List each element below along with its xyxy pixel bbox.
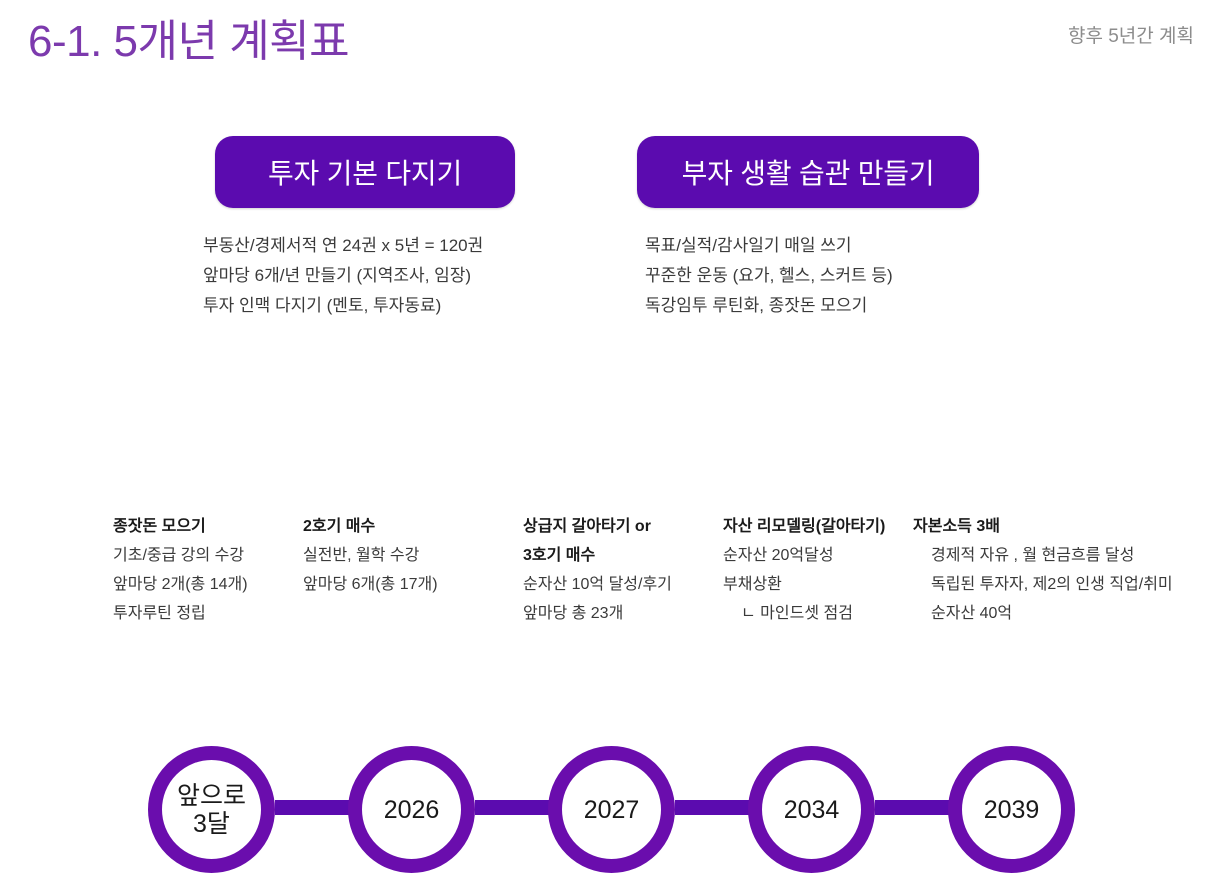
pillar-note-line: 독강임투 루틴화, 종잣돈 모으기	[645, 291, 893, 321]
pillar-header-2: 부자 생활 습관 만들기	[637, 136, 979, 208]
milestone-column-5: 자본소득 3배 경제적 자유 , 월 현금흐름 달성 독립된 투자자, 제2의 …	[913, 512, 1173, 628]
timeline-node-2[interactable]: 2026	[348, 746, 475, 873]
milestone-line: 앞마당 2개(총 14개)	[113, 570, 248, 599]
milestone-heading: 종잣돈 모으기	[113, 512, 248, 541]
slide-subtitle: 향후 5년간 계획	[1068, 24, 1194, 50]
milestone-line: 투자루틴 정립	[113, 599, 248, 628]
timeline-node-5[interactable]: 2039	[948, 746, 1075, 873]
milestone-line: 순자산 20억달성	[723, 541, 885, 570]
milestone-line: 실전반, 월학 수강	[303, 541, 438, 570]
pillar-notes-1: 부동산/경제서적 연 24권 x 5년 = 120권 앞마당 6개/년 만들기 …	[203, 231, 483, 321]
timeline-node-5-label: 2039	[984, 796, 1040, 824]
pillar-note-line: 꾸준한 운동 (요가, 헬스, 스커트 등)	[645, 261, 893, 291]
milestone-line: 부채상환	[723, 570, 885, 599]
milestone-column-4: 자산 리모델링(갈아타기) 순자산 20억달성 부채상환 ㄴ 마인드셋 점검	[723, 512, 885, 628]
timeline-connector	[875, 800, 955, 815]
milestone-line: 순자산 40억	[913, 599, 1173, 628]
pillar-note-line: 부동산/경제서적 연 24권 x 5년 = 120권	[203, 231, 483, 261]
milestone-heading: 2호기 매수	[303, 512, 438, 541]
timeline-node-2-label: 2026	[384, 796, 440, 824]
milestone-heading: 상급지 갈아타기 or	[523, 512, 672, 541]
timeline: 앞으로 3달 2026 2027 2034 2039	[0, 373, 1216, 503]
timeline-node-3-label: 2027	[584, 796, 640, 824]
pillar-note-line: 목표/실적/감사일기 매일 쓰기	[645, 231, 893, 261]
milestone-line: ㄴ 마인드셋 점검	[723, 599, 885, 628]
milestone-heading: 3호기 매수	[523, 541, 672, 570]
milestone-column-1: 종잣돈 모으기 기초/중급 강의 수강 앞마당 2개(총 14개) 투자루틴 정…	[113, 512, 248, 628]
milestone-line: 독립된 투자자, 제2의 인생 직업/취미	[913, 570, 1173, 599]
milestone-line: 앞마당 6개(총 17개)	[303, 570, 438, 599]
milestone-line: 기초/중급 강의 수강	[113, 541, 248, 570]
pillar-header-1-label: 투자 기본 다지기	[268, 152, 462, 192]
pillar-header-1: 투자 기본 다지기	[215, 136, 515, 208]
slide-canvas: 6-1. 5개년 계획표 향후 5년간 계획 투자 기본 다지기 부동산/경제서…	[0, 0, 1216, 684]
milestone-line: 경제적 자유 , 월 현금흐름 달성	[913, 541, 1173, 570]
timeline-connector	[475, 800, 555, 815]
timeline-node-1-label: 앞으로 3달	[177, 782, 246, 838]
pillar-note-line: 투자 인맥 다지기 (멘토, 투자동료)	[203, 291, 483, 321]
milestone-heading: 자본소득 3배	[913, 512, 1173, 541]
pillar-notes-2: 목표/실적/감사일기 매일 쓰기 꾸준한 운동 (요가, 헬스, 스커트 등) …	[645, 231, 893, 321]
milestone-column-3: 상급지 갈아타기 or 3호기 매수 순자산 10억 달성/후기 앞마당 총 2…	[523, 512, 672, 628]
pillar-note-line: 앞마당 6개/년 만들기 (지역조사, 임장)	[203, 261, 483, 291]
page-title: 6-1. 5개년 계획표	[28, 14, 349, 70]
milestone-line: 순자산 10억 달성/후기	[523, 570, 672, 599]
milestone-line: 앞마당 총 23개	[523, 599, 672, 628]
timeline-node-1[interactable]: 앞으로 3달	[148, 746, 275, 873]
timeline-node-4-label: 2034	[784, 796, 840, 824]
timeline-connector	[675, 800, 755, 815]
timeline-node-4[interactable]: 2034	[748, 746, 875, 873]
milestone-heading: 자산 리모델링(갈아타기)	[723, 512, 885, 541]
pillar-header-2-label: 부자 생활 습관 만들기	[682, 152, 935, 192]
timeline-connector	[275, 800, 355, 815]
milestone-column-2: 2호기 매수 실전반, 월학 수강 앞마당 6개(총 17개)	[303, 512, 438, 599]
timeline-node-3[interactable]: 2027	[548, 746, 675, 873]
